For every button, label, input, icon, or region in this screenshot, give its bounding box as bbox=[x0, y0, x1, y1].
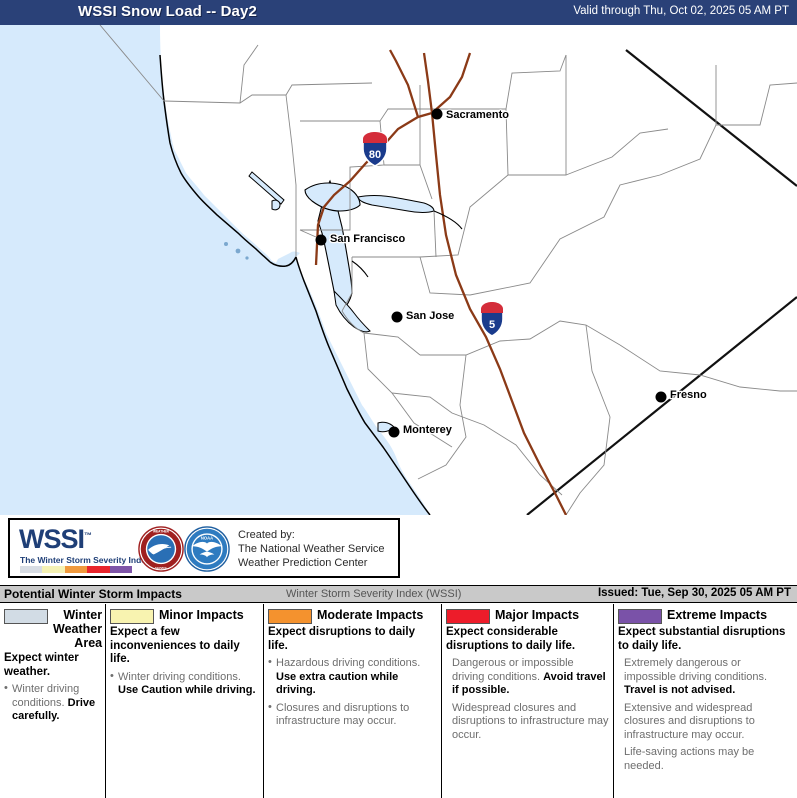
legend-header-subtitle: Winter Storm Severity Index (WSSI) bbox=[286, 588, 461, 600]
weather-map[interactable]: 80 5 Sacramento San Francisco bbox=[0, 25, 797, 515]
svg-text:WEATHER: WEATHER bbox=[153, 529, 170, 533]
gradient-swatch-minor bbox=[42, 566, 64, 573]
bullet-dot-icon: • bbox=[268, 656, 272, 670]
legend-swatch-row: Major Impacts bbox=[446, 608, 609, 624]
legend-label-extreme-impacts: Extreme Impacts bbox=[667, 608, 767, 622]
noaa-seal: NOAA bbox=[184, 526, 230, 572]
legend-column-winter-weather-area: Winter Weather AreaExpect winter weather… bbox=[0, 604, 106, 798]
gradient-swatch-winter bbox=[20, 566, 42, 573]
svg-text:NOAA: NOAA bbox=[201, 535, 213, 540]
issued-timestamp: Issued: Tue, Sep 30, 2025 05 AM PT bbox=[598, 587, 791, 599]
interstate-shield-5: 5 bbox=[481, 302, 503, 336]
impacts-legend: Potential Winter Storm Impacts Winter St… bbox=[0, 585, 797, 797]
gradient-swatch-extreme bbox=[110, 566, 132, 573]
legend-header-title: Potential Winter Storm Impacts bbox=[4, 587, 182, 601]
legend-column-minor-impacts: Minor ImpactsExpect a few inconveniences… bbox=[106, 604, 264, 798]
page-title: WSSI Snow Load -- Day2 bbox=[78, 3, 257, 20]
legend-swatch-row: Winter Weather Area bbox=[4, 608, 101, 650]
created-by-line-1: Created by: bbox=[238, 528, 385, 542]
gradient-swatch-moderate bbox=[65, 566, 87, 573]
legend-bullet-extreme-impacts-0: Extremely dangerous or impossible drivin… bbox=[618, 657, 793, 698]
city-label-sacramento: Sacramento bbox=[446, 109, 509, 121]
city-label-san-jose: San Jose bbox=[406, 310, 454, 322]
legend-summary-winter-weather-area: Expect winter weather. bbox=[4, 652, 101, 679]
legend-bullet-emphasis: Drive carefully. bbox=[12, 697, 95, 723]
legend-column-major-impacts: Major ImpactsExpect considerable disrupt… bbox=[442, 604, 614, 798]
legend-swatch-major-impacts bbox=[446, 609, 490, 624]
created-by-block: Created by: The National Weather Service… bbox=[238, 528, 385, 570]
legend-swatch-moderate-impacts bbox=[268, 609, 312, 624]
legend-swatch-row: Extreme Impacts bbox=[618, 608, 793, 624]
bullet-dot-icon: • bbox=[110, 670, 114, 684]
legend-bullet-winter-weather-area-0: •Winter driving conditions. Drive carefu… bbox=[4, 683, 101, 724]
legend-column-extreme-impacts: Extreme ImpactsExpect substantial disrup… bbox=[614, 604, 797, 798]
legend-summary-major-impacts: Expect considerable disruptions to daily… bbox=[446, 626, 609, 653]
legend-swatch-extreme-impacts bbox=[618, 609, 662, 624]
created-by-line-3: Weather Prediction Center bbox=[238, 556, 385, 570]
valid-through-text: Valid through Thu, Oct 02, 2025 05 AM PT bbox=[573, 5, 789, 17]
legend-swatch-row: Minor Impacts bbox=[110, 608, 259, 624]
bullet-dot-icon: • bbox=[268, 701, 272, 715]
wssi-snow-load-screen: WSSI Snow Load -- Day2 Valid through Thu… bbox=[0, 0, 797, 797]
legend-swatch-minor-impacts bbox=[110, 609, 154, 624]
trademark-symbol: ™ bbox=[84, 531, 92, 540]
legend-bullet-emphasis: Travel is not advised. bbox=[624, 684, 735, 696]
legend-category-columns: Winter Weather AreaExpect winter weather… bbox=[0, 603, 797, 798]
legend-bullet-moderate-impacts-1: •Closures and disruptions to infrastruct… bbox=[268, 702, 437, 729]
legend-bullet-emphasis: Use extra caution while driving. bbox=[276, 671, 398, 697]
legend-summary-moderate-impacts: Expect disruptions to daily life. bbox=[268, 626, 437, 653]
svg-text:5: 5 bbox=[489, 319, 495, 331]
legend-bullet-emphasis: Avoid travel if possible. bbox=[452, 671, 606, 697]
city-label-san-francisco: San Francisco bbox=[330, 233, 405, 245]
legend-bullet-extreme-impacts-1: Extensive and widespread closures and di… bbox=[618, 702, 793, 743]
legend-column-moderate-impacts: Moderate ImpactsExpect disruptions to da… bbox=[264, 604, 442, 798]
svg-text:SERVICE: SERVICE bbox=[155, 566, 167, 570]
legend-bullet-moderate-impacts-0: •Hazardous driving conditions. Use extra… bbox=[268, 657, 437, 698]
wssi-wordmark: WSSI™ bbox=[19, 524, 92, 555]
gradient-swatch-major bbox=[87, 566, 109, 573]
title-bar: WSSI Snow Load -- Day2 Valid through Thu… bbox=[0, 0, 797, 25]
legend-swatch-winter-weather-area bbox=[4, 609, 48, 624]
wssi-severity-gradient-bar bbox=[20, 566, 132, 573]
wssi-credits-panel: WSSI™ The Winter Storm Severity Index WE… bbox=[8, 518, 400, 578]
legend-label-winter-weather-area: Winter Weather Area bbox=[53, 608, 102, 650]
legend-label-major-impacts: Major Impacts bbox=[495, 608, 579, 622]
legend-label-minor-impacts: Minor Impacts bbox=[159, 608, 244, 622]
map-canvas: 80 5 Sacramento San Francisco bbox=[0, 25, 797, 515]
legend-bullet-minor-impacts-0: •Winter driving conditions. Use Caution … bbox=[110, 671, 259, 698]
national-weather-service-seal: WEATHER SERVICE bbox=[138, 526, 184, 572]
svg-text:80: 80 bbox=[369, 149, 381, 161]
legend-bullet-emphasis: Use Caution while driving. bbox=[118, 684, 256, 696]
legend-bullet-major-impacts-0: Dangerous or impossible driving conditio… bbox=[446, 657, 609, 698]
legend-bullet-extreme-impacts-2: Life-saving actions may be needed. bbox=[618, 746, 793, 773]
legend-swatch-row: Moderate Impacts bbox=[268, 608, 437, 624]
wssi-tagline: The Winter Storm Severity Index bbox=[20, 555, 151, 565]
bullet-dot-icon: • bbox=[4, 682, 8, 696]
legend-summary-minor-impacts: Expect a few inconveniences to daily lif… bbox=[110, 626, 259, 667]
legend-header-bar: Potential Winter Storm Impacts Winter St… bbox=[0, 586, 797, 603]
legend-bullet-major-impacts-1: Widespread closures and disruptions to i… bbox=[446, 702, 609, 743]
city-label-monterey: Monterey bbox=[403, 424, 453, 436]
created-by-line-2: The National Weather Service bbox=[238, 542, 385, 556]
legend-summary-extreme-impacts: Expect substantial disruptions to daily … bbox=[618, 626, 793, 653]
legend-label-moderate-impacts: Moderate Impacts bbox=[317, 608, 423, 622]
city-label-fresno: Fresno bbox=[670, 389, 707, 401]
wssi-wordmark-text: WSSI bbox=[19, 524, 84, 554]
